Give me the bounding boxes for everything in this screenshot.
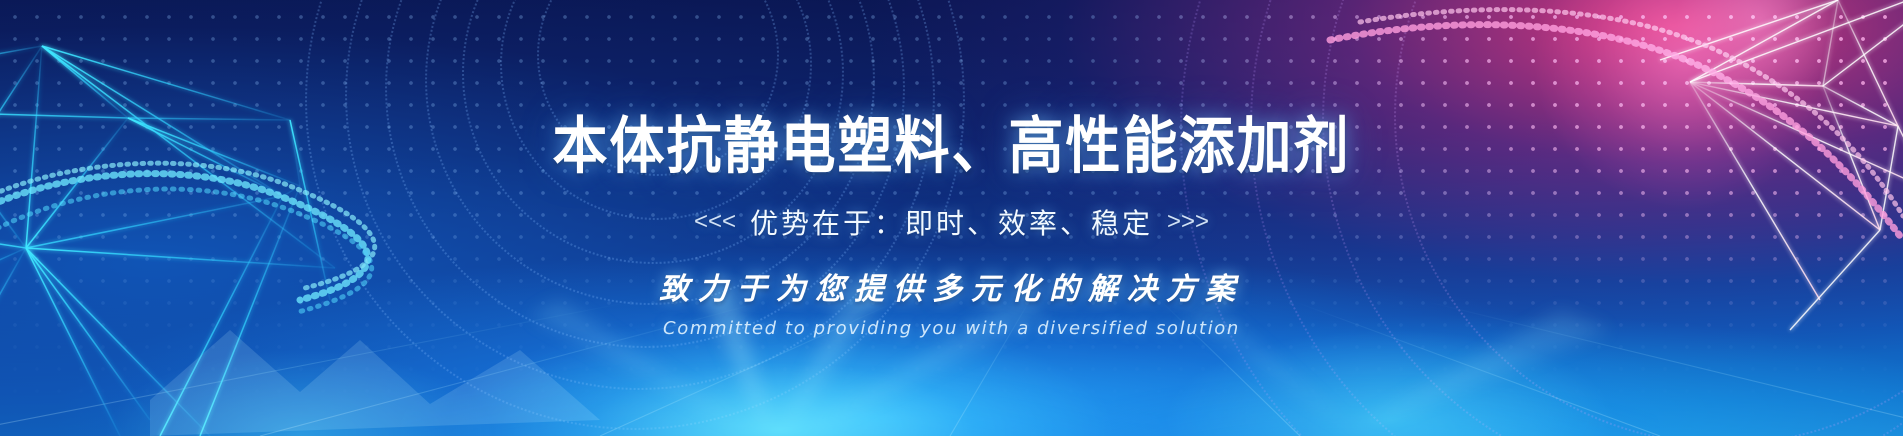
hero-banner: 本体抗静电塑料、高性能添加剂 <<< 优势在于：即时、效率、稳定 >>> 致力于…	[0, 0, 1903, 436]
chevron-left-icon: <<<	[694, 208, 736, 236]
banner-content: 本体抗静电塑料、高性能添加剂 <<< 优势在于：即时、效率、稳定 >>> 致力于…	[0, 0, 1903, 436]
chevron-right-icon: >>>	[1167, 208, 1209, 236]
banner-english-tagline: Committed to providing you with a divers…	[663, 318, 1240, 339]
banner-script-tagline: 致力于为您提供多元化的解决方案	[659, 264, 1244, 308]
banner-subtitle: <<< 优势在于：即时、效率、稳定 >>>	[694, 202, 1209, 242]
banner-subtitle-text: 优势在于：即时、效率、稳定	[750, 202, 1153, 242]
banner-headline: 本体抗静电塑料、高性能添加剂	[552, 115, 1350, 180]
